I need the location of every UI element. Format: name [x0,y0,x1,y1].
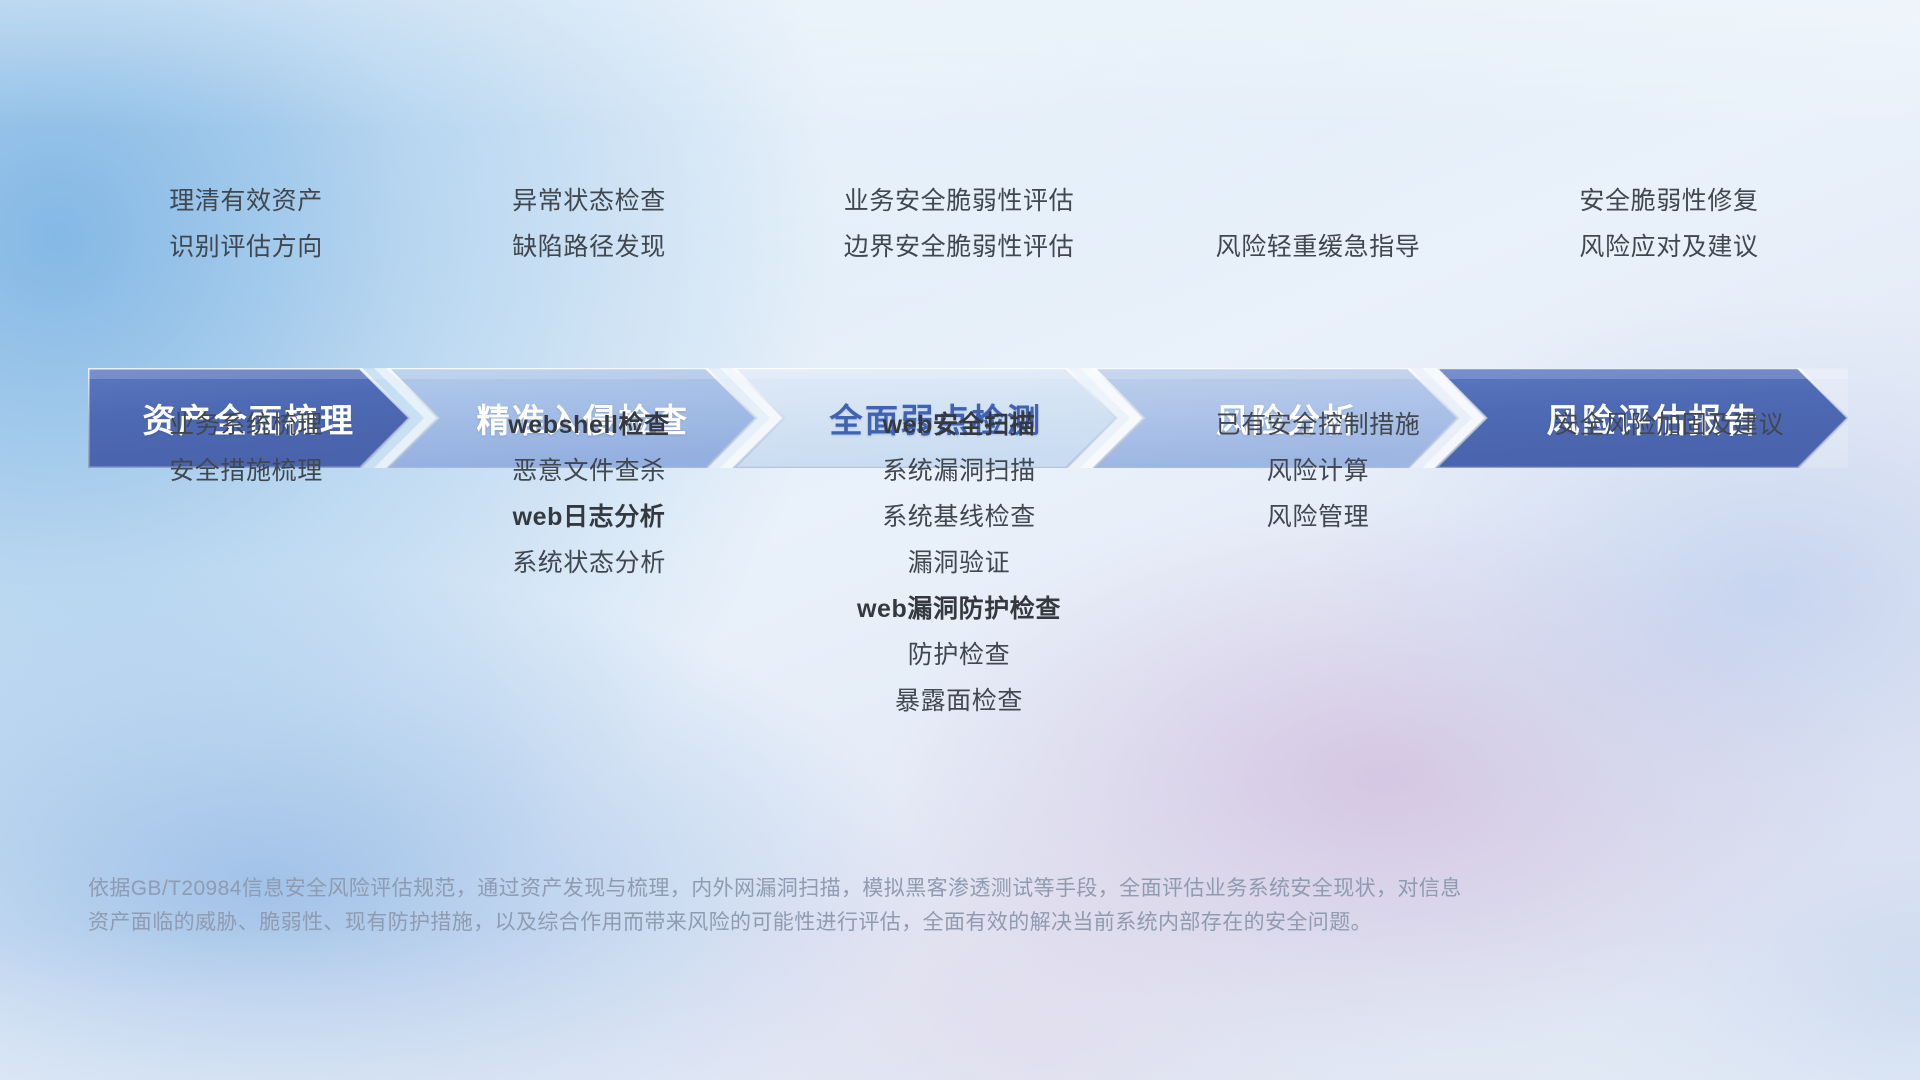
caption-item: 边界安全脆弱性评估 [844,230,1074,264]
caption-item: 风险计算 [1267,454,1369,488]
top-captions-row: 理清有效资产 识别评估方向 异常状态检查 缺陷路径发现 业务安全脆弱性评估 边界… [88,184,1846,264]
caption-item: 风险轻重缓急指导 [1216,230,1421,264]
bottom-captions-assessment-report: 安全风险加固及建议 [1492,408,1846,442]
top-captions-weakness-detection: 业务安全脆弱性评估 边界安全脆弱性评估 [774,184,1144,264]
caption-item: 风险应对及建议 [1579,230,1758,264]
footer-line-2: 资产面临的威胁、脆弱性、现有防护措施，以及综合作用而带来风险的可能性进行评估，全… [88,906,1548,940]
bottom-captions-row: 业务系统梳理 安全措施梳理 webshell检查 恶意文件查杀 web日志分析 … [88,408,1846,718]
top-captions-assessment-report: 安全脆弱性修复 风险应对及建议 [1492,184,1846,264]
caption-item: 异常状态检查 [512,184,666,218]
caption-item: 缺陷路径发现 [512,230,666,264]
caption-item: web日志分析 [513,500,666,534]
top-captions-asset-inventory: 理清有效资产 识别评估方向 [88,184,404,264]
caption-item: web安全扫描 [883,408,1036,442]
caption-item: 业务系统梳理 [169,408,323,442]
footer-description: 依据GB/T20984信息安全风险评估规范，通过资产发现与梳理，内外网漏洞扫描，… [88,872,1548,940]
caption-item: 理清有效资产 [169,184,323,218]
caption-item: 风险管理 [1267,500,1369,534]
caption-item: 防护检查 [908,638,1010,672]
bottom-captions-risk-analysis: 已有安全控制措施 风险计算 风险管理 [1144,408,1492,534]
caption-item: 已有安全控制措施 [1216,408,1421,442]
caption-item: 系统基线检查 [882,500,1036,534]
caption-item: web漏洞防护检查 [857,592,1061,626]
footer-line-1: 依据GB/T20984信息安全风险评估规范，通过资产发现与梳理，内外网漏洞扫描，… [88,872,1548,906]
slide-canvas: 理清有效资产 识别评估方向 异常状态检查 缺陷路径发现 业务安全脆弱性评估 边界… [0,0,1920,1080]
caption-item: 安全风险加固及建议 [1554,408,1784,442]
caption-item: 系统漏洞扫描 [882,454,1036,488]
caption-item: 暴露面检查 [895,684,1023,718]
bottom-captions-weakness-detection: web安全扫描 系统漏洞扫描 系统基线检查 漏洞验证 web漏洞防护检查 防护检… [774,408,1144,718]
caption-item: 系统状态分析 [512,546,666,580]
bottom-captions-intrusion-check: webshell检查 恶意文件查杀 web日志分析 系统状态分析 [404,408,774,580]
bottom-captions-asset-inventory: 业务系统梳理 安全措施梳理 [88,408,404,488]
caption-item: 安全措施梳理 [169,454,323,488]
caption-item: webshell检查 [508,408,670,442]
top-captions-risk-analysis: 风险轻重缓急指导 [1144,230,1492,264]
caption-item: 业务安全脆弱性评估 [844,184,1074,218]
top-captions-intrusion-check: 异常状态检查 缺陷路径发现 [404,184,774,264]
caption-item: 漏洞验证 [908,546,1010,580]
caption-item: 安全脆弱性修复 [1579,184,1758,218]
caption-item: 恶意文件查杀 [512,454,666,488]
caption-item: 识别评估方向 [169,230,323,264]
